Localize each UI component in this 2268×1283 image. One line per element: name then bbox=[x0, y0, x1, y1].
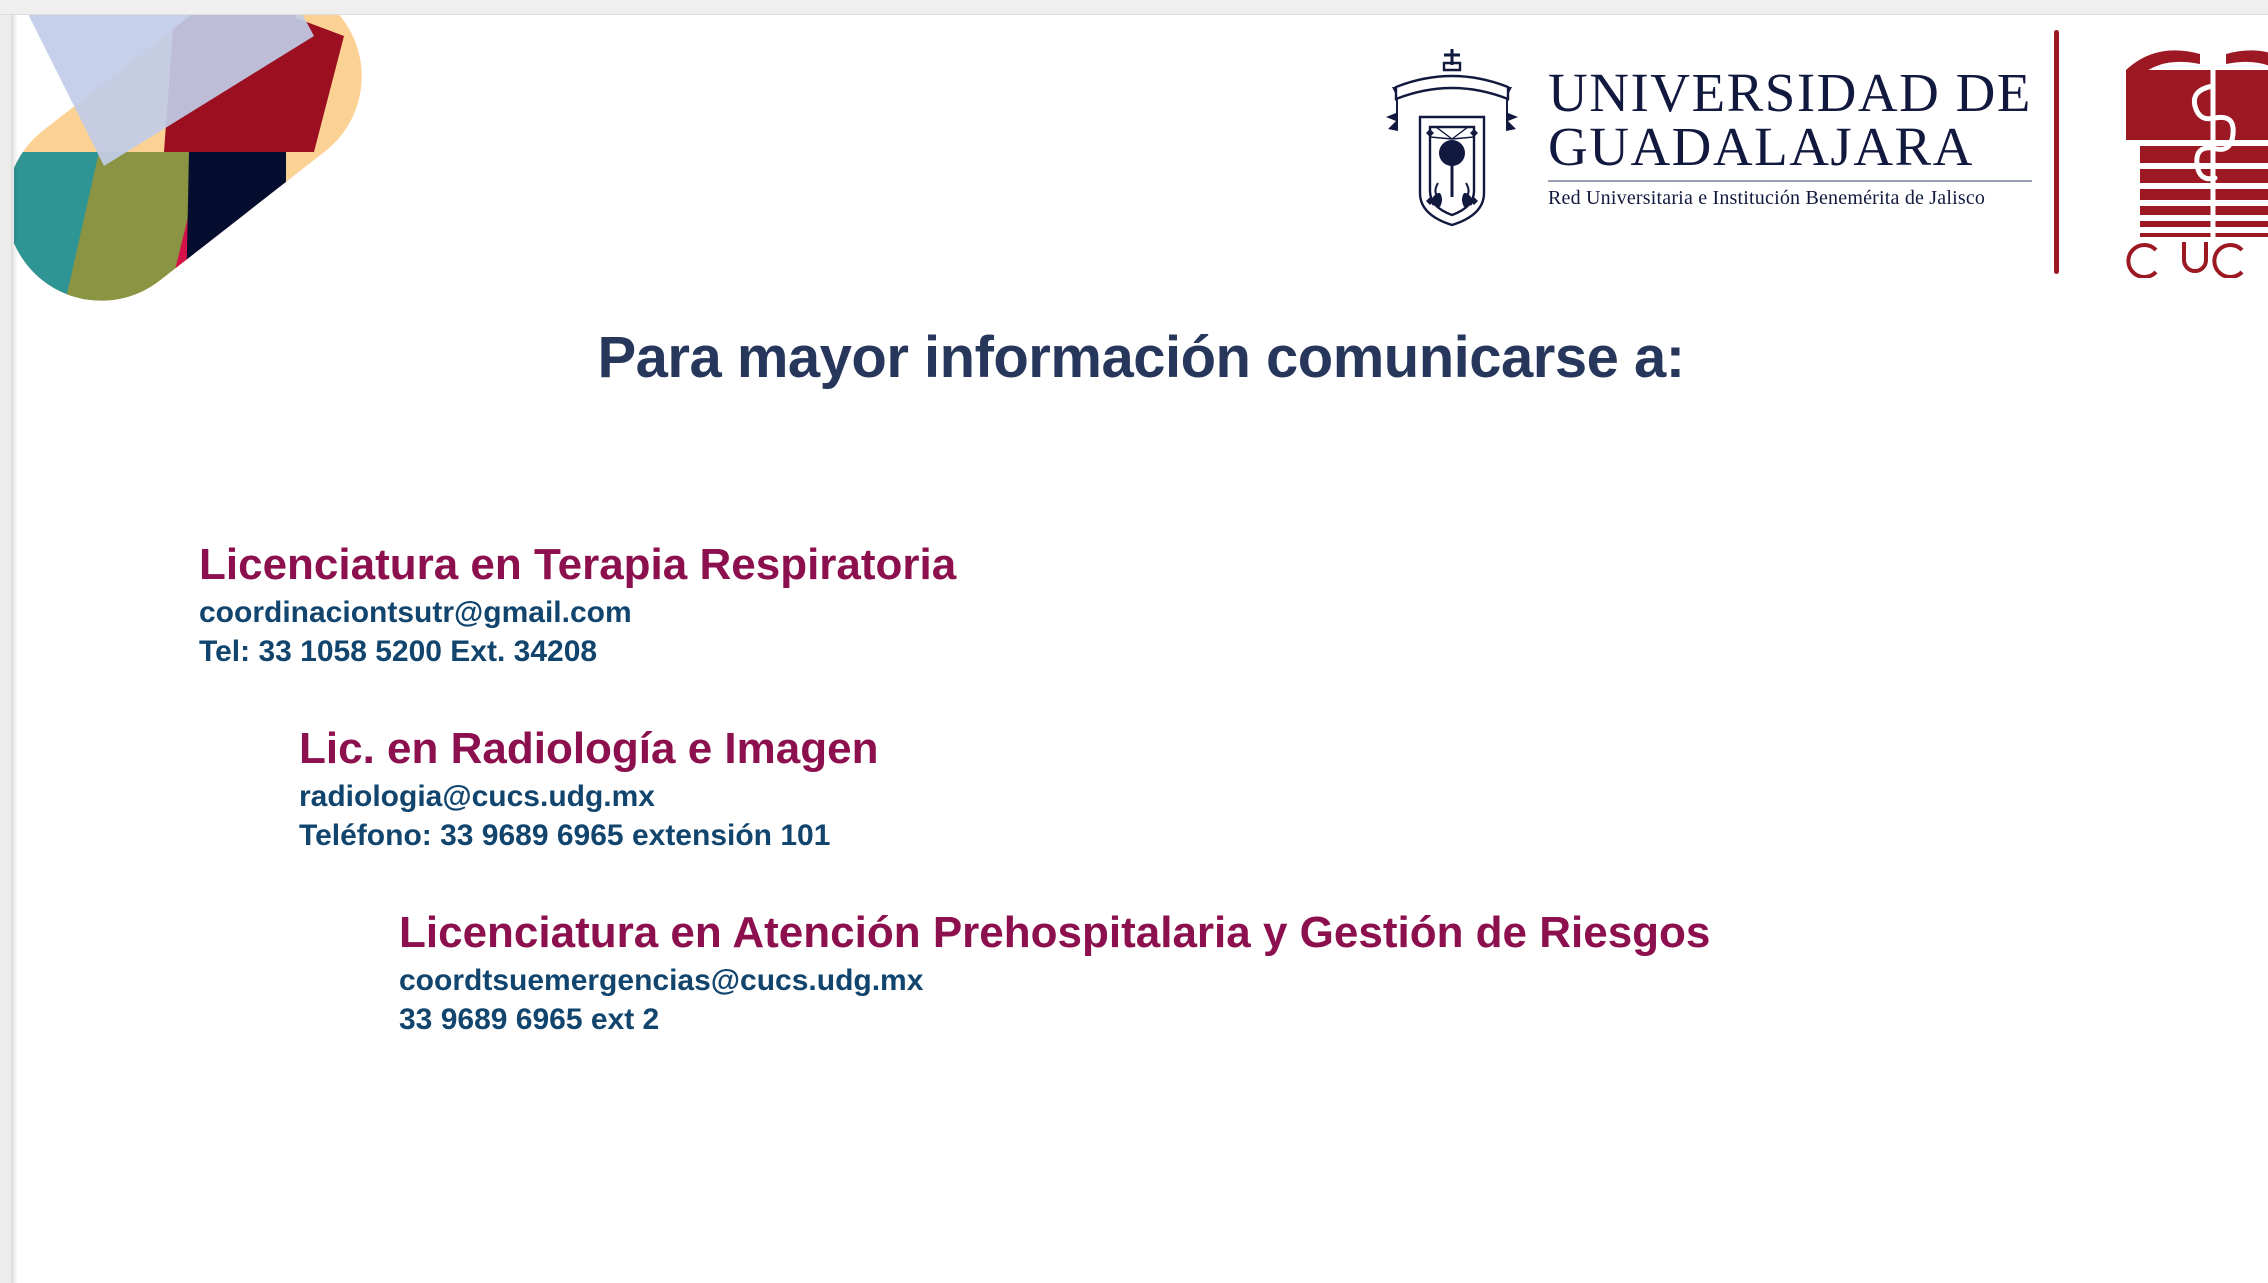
program-email[interactable]: coordinaciontsutr@gmail.com bbox=[199, 593, 2268, 632]
viewer-left-chrome bbox=[0, 0, 11, 1283]
slide-viewer: UNIVERSIDAD DE GUADALAJARA Red Universit… bbox=[0, 0, 2268, 1283]
contact-block-radiologia-e-imagen: Lic. en Radiología e Imagen radiologia@c… bbox=[14, 723, 2268, 855]
program-phone: Teléfono: 33 9689 6965 extensión 101 bbox=[299, 816, 2268, 855]
udg-logo: UNIVERSIDAD DE GUADALAJARA Red Universit… bbox=[1382, 38, 2002, 238]
contact-block-terapia-respiratoria: Licenciatura en Terapia Respiratoria coo… bbox=[14, 539, 2268, 671]
udg-wordmark-rule bbox=[1548, 180, 2032, 182]
contact-block-atencion-prehospitalaria: Licenciatura en Atención Prehospitalaria… bbox=[14, 907, 2268, 1039]
viewer-left-shadow bbox=[11, 0, 18, 1283]
contact-list: Licenciatura en Terapia Respiratoria coo… bbox=[14, 539, 2268, 1039]
udg-wordmark-line2: GUADALAJARA bbox=[1548, 120, 2032, 174]
cucs-logo bbox=[2118, 28, 2268, 278]
header-divider bbox=[2054, 30, 2059, 274]
slide-canvas: UNIVERSIDAD DE GUADALAJARA Red Universit… bbox=[14, 14, 2268, 1283]
page-title: Para mayor información comunicarse a: bbox=[14, 324, 2268, 391]
decorative-capsule-graphic bbox=[14, 14, 434, 316]
program-name: Lic. en Radiología e Imagen bbox=[299, 723, 2268, 775]
program-phone: 33 9689 6965 ext 2 bbox=[399, 1000, 2268, 1039]
program-email[interactable]: coordtsuemergencias@cucs.udg.mx bbox=[399, 961, 2268, 1000]
udg-crest-icon bbox=[1382, 43, 1522, 233]
udg-wordmark: UNIVERSIDAD DE GUADALAJARA Red Universit… bbox=[1548, 66, 2032, 211]
udg-wordmark-line1: UNIVERSIDAD DE bbox=[1548, 66, 2032, 120]
program-phone: Tel: 33 1058 5200 Ext. 34208 bbox=[199, 632, 2268, 671]
udg-wordmark-subtitle: Red Universitaria e Institución Beneméri… bbox=[1548, 187, 2032, 210]
program-email[interactable]: radiologia@cucs.udg.mx bbox=[299, 777, 2268, 816]
program-name: Licenciatura en Terapia Respiratoria bbox=[199, 539, 2268, 591]
program-name: Licenciatura en Atención Prehospitalaria… bbox=[399, 907, 2268, 959]
viewer-top-chrome bbox=[0, 0, 2268, 15]
